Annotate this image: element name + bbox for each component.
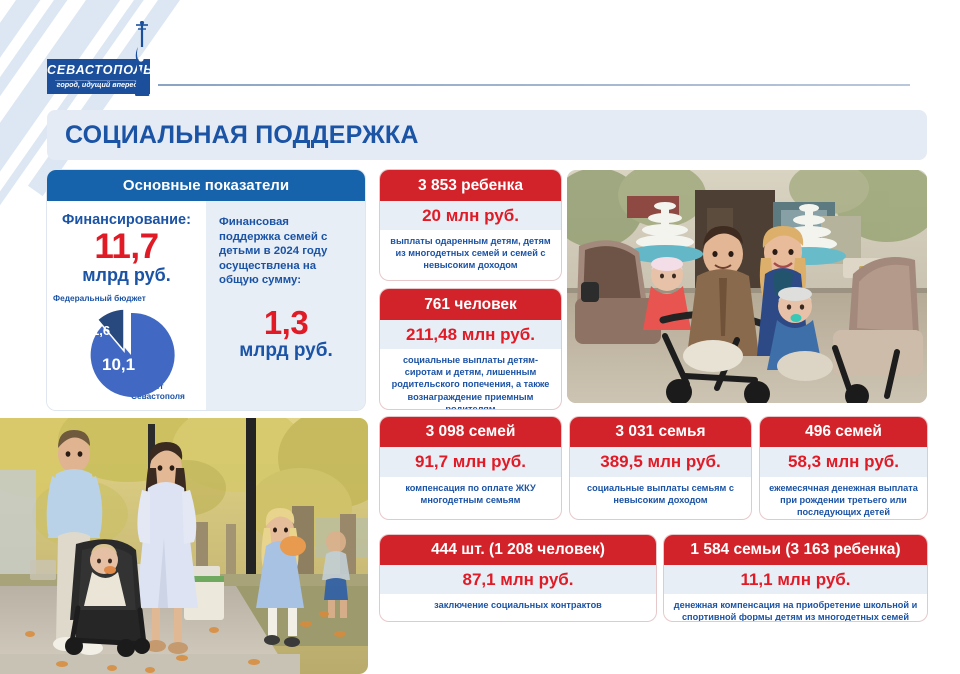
metric-card: 444 шт. (1 208 человек) 87,1 млн руб. за…: [380, 535, 656, 621]
card-head: 3 031 семья: [570, 417, 751, 447]
header-divider-rule: [158, 84, 910, 86]
card-description: социальные выплаты семьям с невысоким до…: [570, 477, 751, 506]
pie-label-federal: Федеральный бюджет: [53, 293, 146, 303]
family-support-amount: 1,3: [219, 305, 353, 340]
metric-card: 761 человек 211,48 млн руб. социальные в…: [380, 289, 561, 409]
family-support-text: Финансовая поддержка семей с детьми в 20…: [219, 215, 353, 288]
card-value: 91,7 млн руб.: [380, 447, 561, 477]
financing-unit: млрд руб.: [47, 265, 206, 286]
pie-value-federal: 1,6: [92, 323, 110, 338]
budget-pie-chart: Федеральный бюджет Бюджет Севастополя 1,…: [47, 293, 206, 410]
financing-label: Финансирование:: [47, 212, 206, 228]
page-title: СОЦИАЛЬНАЯ ПОДДЕРЖКА: [65, 121, 419, 150]
card-value: 58,3 млн руб.: [760, 447, 927, 477]
card-head: 444 шт. (1 208 человек): [380, 535, 656, 565]
pie-svg: [75, 305, 187, 401]
page-title-band: СОЦИАЛЬНАЯ ПОДДЕРЖКА: [47, 110, 927, 160]
photo-family-twins-strollers: [567, 170, 927, 403]
card-value: 87,1 млн руб.: [380, 565, 656, 594]
financing-amount: 11,7: [47, 229, 206, 265]
photo-family-autumn-walk: [0, 418, 368, 674]
page-header: СЕВАСТОПОЛЬ город, идущий вперед!: [0, 0, 960, 108]
financing-block: Финансирование: 11,7 млрд руб. Федеральн…: [47, 201, 206, 410]
card-value: 20 млн руб.: [380, 201, 561, 230]
card-description: денежная компенсация на приобретение шко…: [664, 594, 927, 621]
metric-card: 3 853 ребенка 20 млн руб. выплаты одарен…: [380, 170, 561, 280]
card-description: социальные выплаты детям-сиротам и детям…: [380, 349, 561, 409]
metric-card: 3 031 семья 389,5 млн руб. социальные вы…: [570, 417, 751, 519]
card-value: 11,1 млн руб.: [664, 565, 927, 594]
metric-card: 3 098 семей 91,7 млн руб. компенсация по…: [380, 417, 561, 519]
card-head: 1 584 семьи (3 163 ребенка): [664, 535, 927, 565]
pie-value-sevastopol: 10,1: [102, 355, 135, 375]
card-description: выплаты одаренным детям, детям из многод…: [380, 230, 561, 272]
card-description: компенсация по оплате ЖКУ многодетным се…: [380, 477, 561, 506]
monument-icon: [122, 21, 164, 96]
card-head: 3 098 семей: [380, 417, 561, 447]
card-value: 211,48 млн руб.: [380, 320, 561, 349]
metric-card: 496 семей 58,3 млн руб. ежемесячная дене…: [760, 417, 927, 519]
main-indicators-heading: Основные показатели: [47, 170, 365, 201]
card-head: 761 человек: [380, 289, 561, 320]
family-support-unit: млрд руб.: [219, 340, 353, 362]
card-head: 3 853 ребенка: [380, 170, 561, 201]
main-indicators-panel: Основные показатели Финансирование: 11,7…: [47, 170, 365, 410]
card-value: 389,5 млн руб.: [570, 447, 751, 477]
card-description: ежемесячная денежная выплата при рождени…: [760, 477, 927, 519]
metric-card: 1 584 семьи (3 163 ребенка) 11,1 млн руб…: [664, 535, 927, 621]
card-head: 496 семей: [760, 417, 927, 447]
card-description: заключение социальных контрактов: [380, 594, 656, 611]
family-support-block: Финансовая поддержка семей с детьми в 20…: [206, 201, 365, 410]
